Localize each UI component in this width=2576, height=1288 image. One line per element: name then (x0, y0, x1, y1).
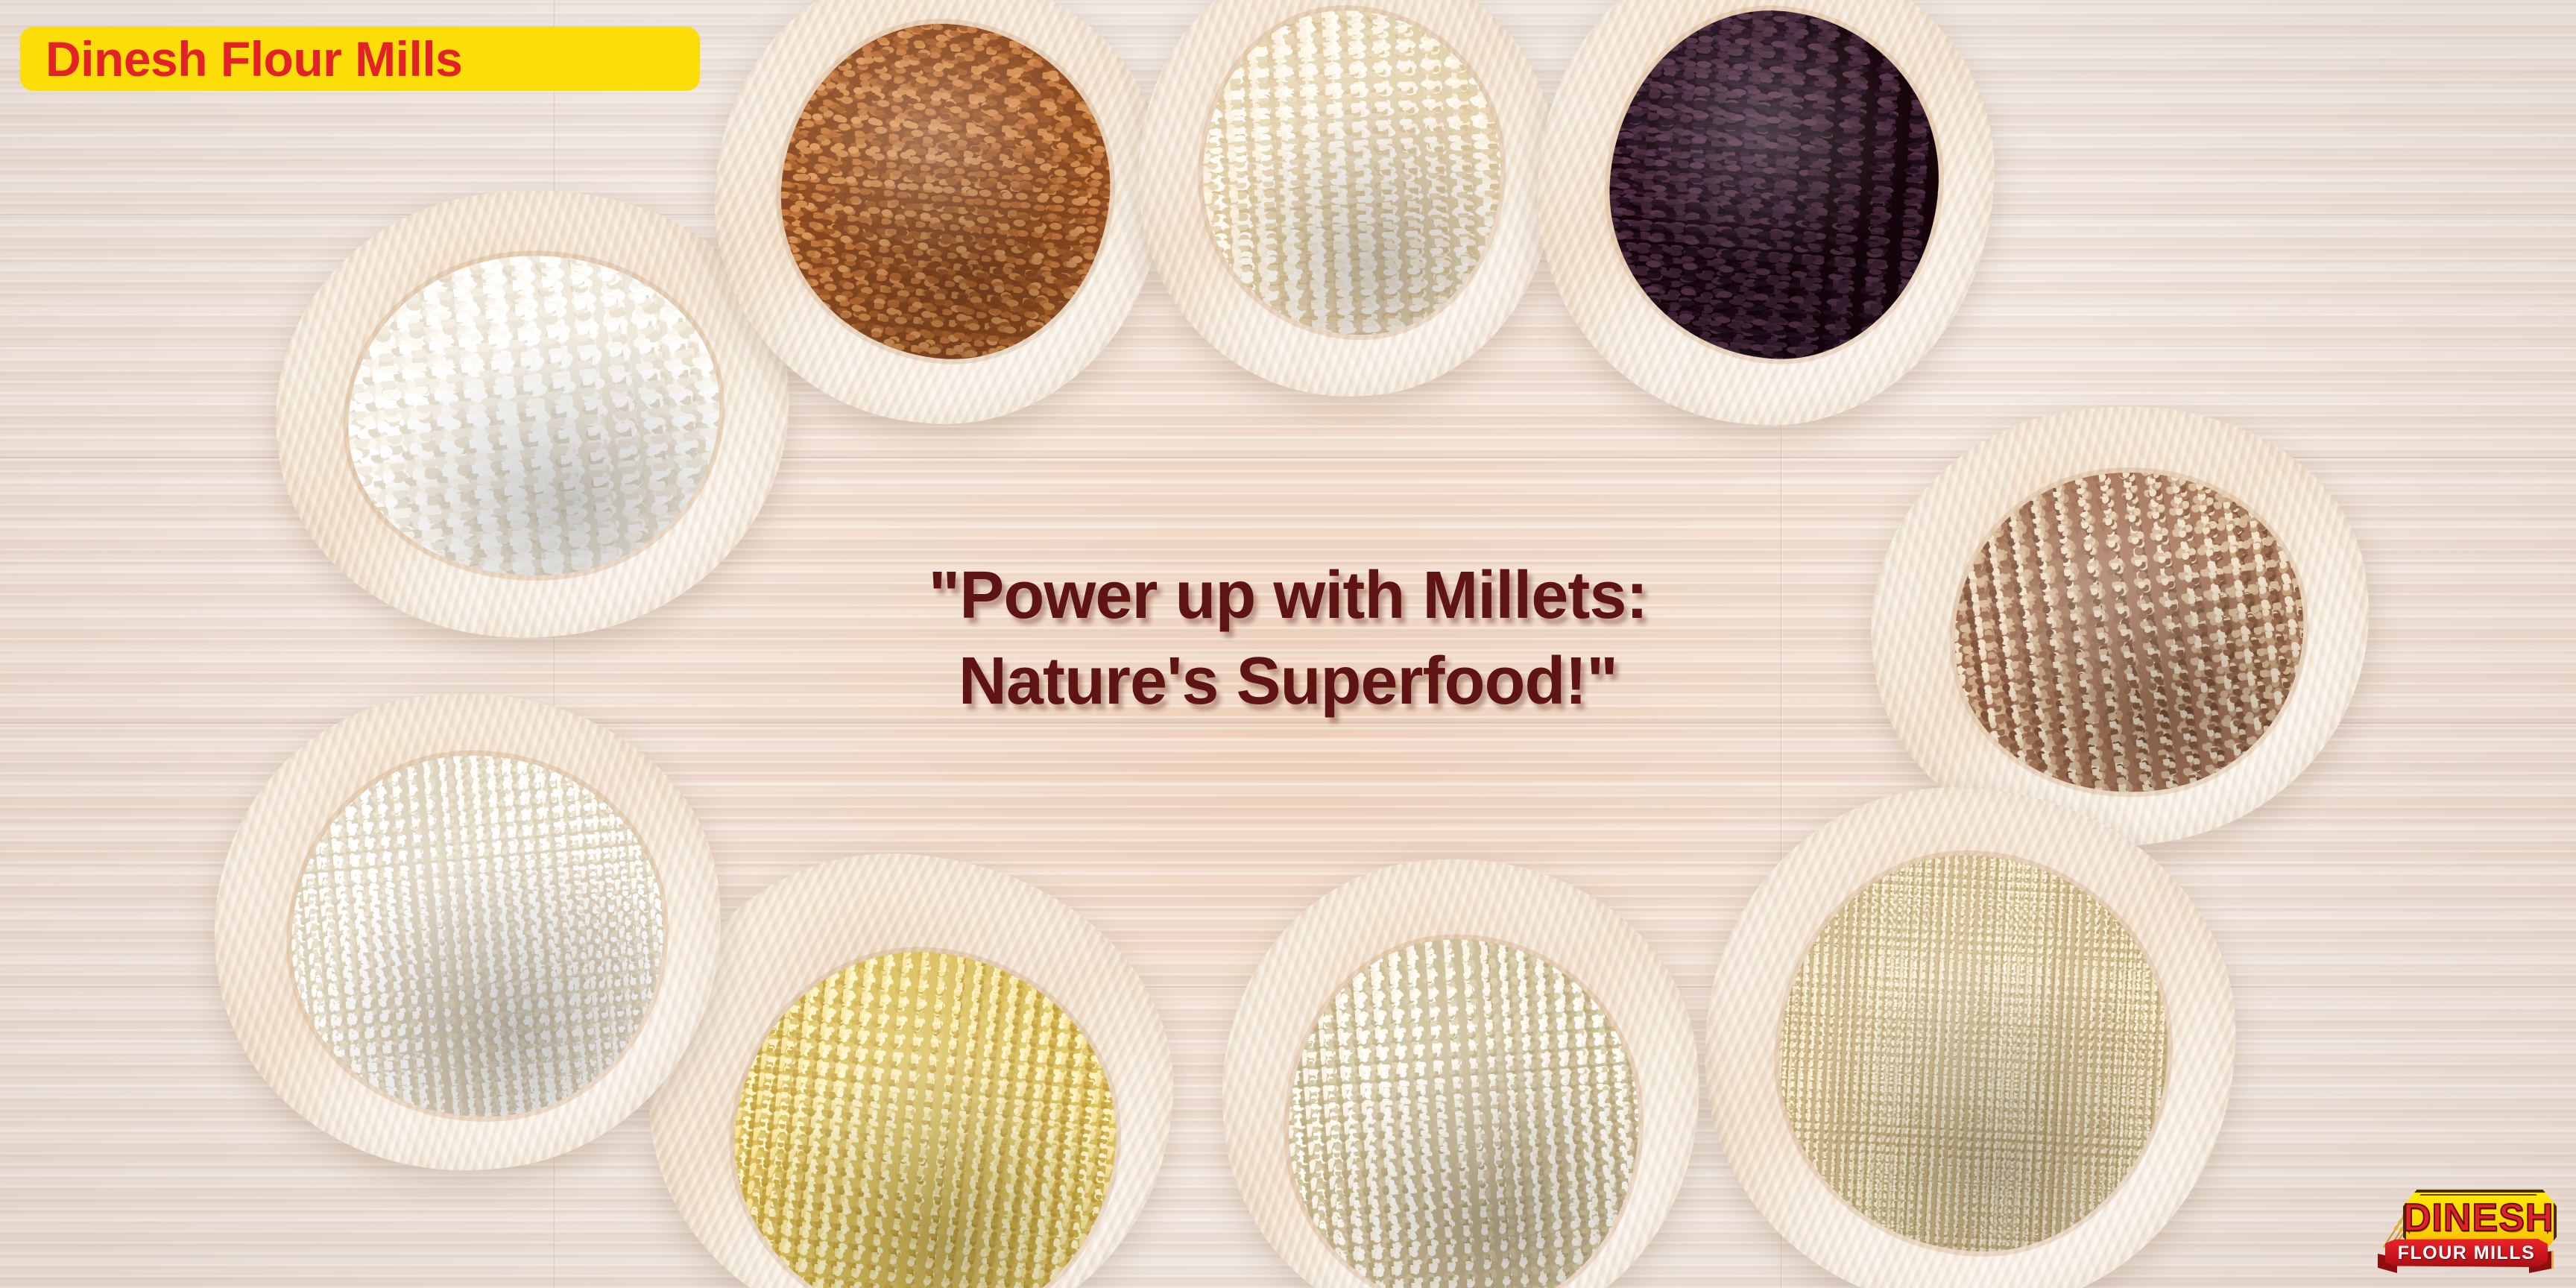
grain-sack-quinoa (1206, 842, 1715, 1288)
brand-badge-label: Dinesh Flour Mills (45, 34, 462, 83)
logo-primary-text: DINESH (2403, 1196, 2551, 1240)
logo-secondary-text: FLOUR MILLS (2385, 1243, 2548, 1263)
grain-sack-white-rice (1128, 0, 1568, 407)
poster-canvas: Dinesh Flour Mills "Power up with Millet… (0, 0, 2576, 1288)
grain-sack-amaranth (1692, 775, 2248, 1288)
grain-sack-black-rice (1522, 0, 2009, 440)
grain-sack-brown-wheat (697, 0, 1182, 442)
brand-badge[interactable]: Dinesh Flour Mills (20, 27, 700, 91)
grain-sack-white-sorghum (195, 672, 741, 1192)
corporate-logo[interactable]: DINESH FLOUR MILLS (2375, 1185, 2558, 1281)
